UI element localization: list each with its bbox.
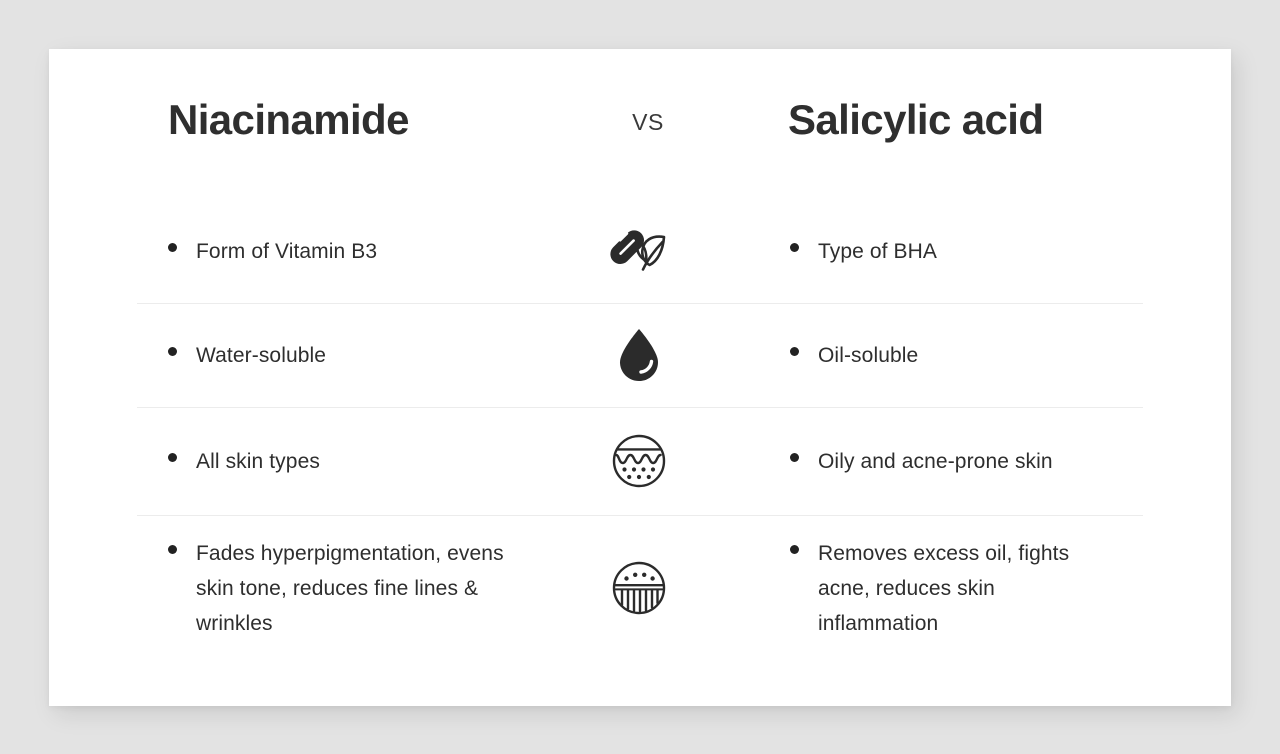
card-header: Niacinamide VS Salicylic acid: [49, 49, 1231, 199]
page-canvas: Niacinamide VS Salicylic acid Form of Vi…: [0, 0, 1280, 754]
left-item-text: All skin types: [196, 444, 320, 479]
left-column-title: Niacinamide: [168, 96, 409, 144]
skin-layers-icon: [606, 428, 672, 494]
bullet-icon: [790, 243, 799, 252]
bullet-icon: [168, 453, 177, 462]
bullet-icon: [168, 243, 177, 252]
row-divider: [137, 407, 1143, 408]
right-item-text: Removes excess oil, fights acne, reduces…: [818, 536, 1118, 641]
comparison-row: Water-soluble Oil-soluble: [49, 303, 1231, 407]
comparison-row: Form of Vitamin B3: [49, 199, 1231, 303]
row-right-cell: Oily and acne-prone skin: [739, 444, 1231, 479]
bullet-icon: [790, 347, 799, 356]
bullet-icon: [790, 453, 799, 462]
right-item-text: Type of BHA: [818, 234, 937, 269]
row-right-cell: Removes excess oil, fights acne, reduces…: [739, 536, 1231, 641]
comparison-card: Niacinamide VS Salicylic acid Form of Vi…: [49, 49, 1231, 706]
row-left-cell: Water-soluble: [49, 338, 539, 373]
row-icon-cell: [539, 555, 739, 621]
right-item-text: Oil-soluble: [818, 338, 918, 373]
water-drop-icon: [606, 322, 672, 388]
left-item-text: Fades hyperpigmentation, evens skin tone…: [196, 536, 526, 641]
comparison-rows: Form of Vitamin B3: [49, 199, 1231, 661]
row-divider: [137, 515, 1143, 516]
row-right-cell: Type of BHA: [739, 234, 1231, 269]
bullet-icon: [790, 545, 799, 554]
pill-leaf-icon: [606, 218, 672, 284]
skin-pores-icon: [606, 555, 672, 621]
row-icon-cell: [539, 218, 739, 284]
row-right-cell: Oil-soluble: [739, 338, 1231, 373]
row-left-cell: All skin types: [49, 444, 539, 479]
row-icon-cell: [539, 428, 739, 494]
vs-label: VS: [605, 109, 691, 136]
comparison-row: Fades hyperpigmentation, evens skin tone…: [49, 515, 1231, 661]
row-icon-cell: [539, 322, 739, 388]
row-left-cell: Fades hyperpigmentation, evens skin tone…: [49, 536, 539, 641]
left-item-text: Form of Vitamin B3: [196, 234, 377, 269]
right-item-text: Oily and acne-prone skin: [818, 444, 1053, 479]
right-column-title: Salicylic acid: [788, 96, 1043, 144]
bullet-icon: [168, 347, 177, 356]
row-left-cell: Form of Vitamin B3: [49, 234, 539, 269]
bullet-icon: [168, 545, 177, 554]
left-item-text: Water-soluble: [196, 338, 326, 373]
row-divider: [137, 303, 1143, 304]
comparison-row: All skin types: [49, 407, 1231, 515]
